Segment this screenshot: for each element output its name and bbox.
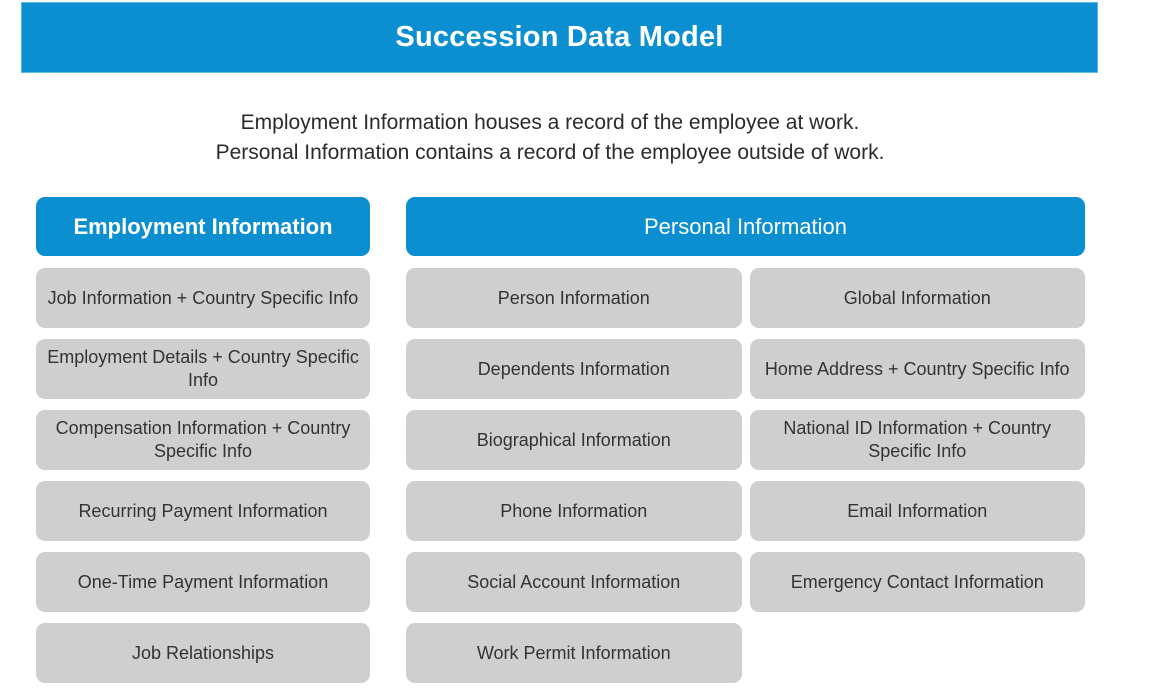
list-item[interactable]: Biographical Information: [406, 410, 742, 470]
list-item-label: One-Time Payment Information: [78, 571, 328, 594]
personal-information-header: Personal Information: [406, 197, 1085, 256]
list-item-label: Employment Details + Country Specific In…: [46, 346, 360, 392]
list-item[interactable]: Job Relationships: [36, 623, 370, 683]
personal-information-column: Personal Information Person Information …: [406, 197, 1085, 683]
employment-information-column: Employment Information Job Information +…: [36, 197, 370, 683]
list-item-label: Dependents Information: [478, 358, 670, 381]
list-item[interactable]: Emergency Contact Information: [750, 552, 1086, 612]
list-item[interactable]: Person Information: [406, 268, 742, 328]
list-item[interactable]: Phone Information: [406, 481, 742, 541]
title-banner: Succession Data Model: [22, 3, 1097, 72]
list-item-label: Recurring Payment Information: [78, 500, 327, 523]
list-item[interactable]: Dependents Information: [406, 339, 742, 399]
list-item[interactable]: Employment Details + Country Specific In…: [36, 339, 370, 399]
subtitle-line-1: Employment Information houses a record o…: [0, 108, 1100, 138]
list-item[interactable]: National ID Information + Country Specif…: [750, 410, 1086, 470]
list-item[interactable]: Home Address + Country Specific Info: [750, 339, 1086, 399]
personal-information-right-list: Global Information Home Address + Countr…: [750, 268, 1086, 683]
list-item-label: Phone Information: [500, 500, 647, 523]
list-item-label: Work Permit Information: [477, 642, 671, 665]
subtitle-block: Employment Information houses a record o…: [0, 108, 1100, 168]
employment-information-header: Employment Information: [36, 197, 370, 256]
list-item-label: Email Information: [847, 500, 987, 523]
list-item[interactable]: Recurring Payment Information: [36, 481, 370, 541]
list-item-label: National ID Information + Country Specif…: [760, 417, 1076, 463]
employment-information-item-list: Job Information + Country Specific Info …: [36, 268, 370, 683]
list-item[interactable]: Global Information: [750, 268, 1086, 328]
personal-information-subcolumns: Person Information Dependents Informatio…: [406, 268, 1085, 683]
list-item-label: Compensation Information + Country Speci…: [46, 417, 360, 463]
list-item[interactable]: Email Information: [750, 481, 1086, 541]
list-item[interactable]: Compensation Information + Country Speci…: [36, 410, 370, 470]
list-item[interactable]: One-Time Payment Information: [36, 552, 370, 612]
list-item-label: Social Account Information: [467, 571, 680, 594]
list-item-label: Person Information: [498, 287, 650, 310]
personal-information-left-list: Person Information Dependents Informatio…: [406, 268, 742, 683]
list-item-label: Biographical Information: [477, 429, 671, 452]
list-item-label: Job Relationships: [132, 642, 274, 665]
page-title: Succession Data Model: [395, 21, 723, 54]
list-item-label: Global Information: [844, 287, 991, 310]
list-item-label: Home Address + Country Specific Info: [765, 358, 1070, 381]
subtitle-line-2: Personal Information contains a record o…: [0, 138, 1100, 168]
list-item-label: Emergency Contact Information: [791, 571, 1044, 594]
list-item[interactable]: Work Permit Information: [406, 623, 742, 683]
data-model-columns: Employment Information Job Information +…: [0, 197, 1162, 690]
list-item-label: Job Information + Country Specific Info: [48, 287, 359, 310]
list-item[interactable]: Job Information + Country Specific Info: [36, 268, 370, 328]
list-item[interactable]: Social Account Information: [406, 552, 742, 612]
